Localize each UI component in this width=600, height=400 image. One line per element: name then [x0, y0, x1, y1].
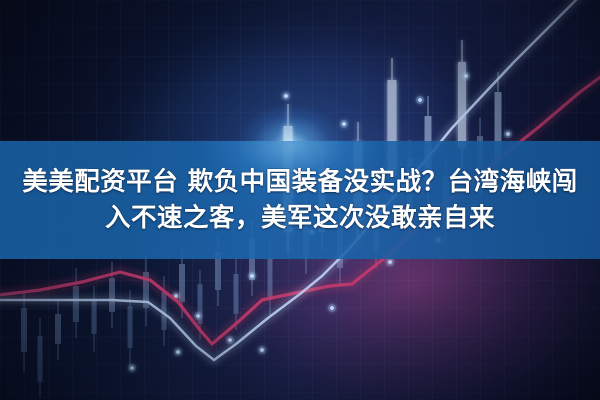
sparkle	[328, 304, 336, 312]
sparkle	[226, 336, 234, 344]
candlestick	[109, 262, 115, 328]
candlestick	[143, 256, 149, 326]
banner-image: 美美配资平台 欺负中国装备没实战？台湾海峡闯 入不速之客，美军这次没敢亲自来	[0, 0, 600, 400]
headline-line-2: 入不速之客，美军这次没敢亲自来	[105, 200, 495, 236]
sparkle	[128, 364, 136, 372]
title-banner: 美美配资平台 欺负中国装备没实战？台湾海峡闯 入不速之客，美军这次没敢亲自来	[0, 141, 600, 259]
candlestick	[162, 276, 167, 346]
sparkle	[462, 72, 470, 80]
sparkle	[386, 258, 394, 266]
sparkle	[504, 130, 512, 138]
candlestick	[38, 318, 43, 398]
candlestick	[21, 292, 27, 372]
candlestick	[55, 300, 61, 360]
candlestick	[73, 268, 79, 338]
sparkle	[174, 348, 182, 356]
sparkle	[282, 92, 290, 100]
sparkle	[248, 272, 256, 280]
candlestick	[234, 258, 239, 330]
headline-line-1: 美美配资平台 欺负中国装备没实战？台湾海峡闯	[22, 164, 577, 200]
candlestick	[198, 270, 203, 340]
sparkle	[172, 292, 180, 300]
sparkle	[340, 120, 348, 128]
sparkle	[194, 312, 202, 320]
sparkle	[416, 96, 424, 104]
sparkle	[258, 346, 266, 354]
candlestick	[128, 290, 133, 366]
candlestick	[92, 286, 97, 352]
